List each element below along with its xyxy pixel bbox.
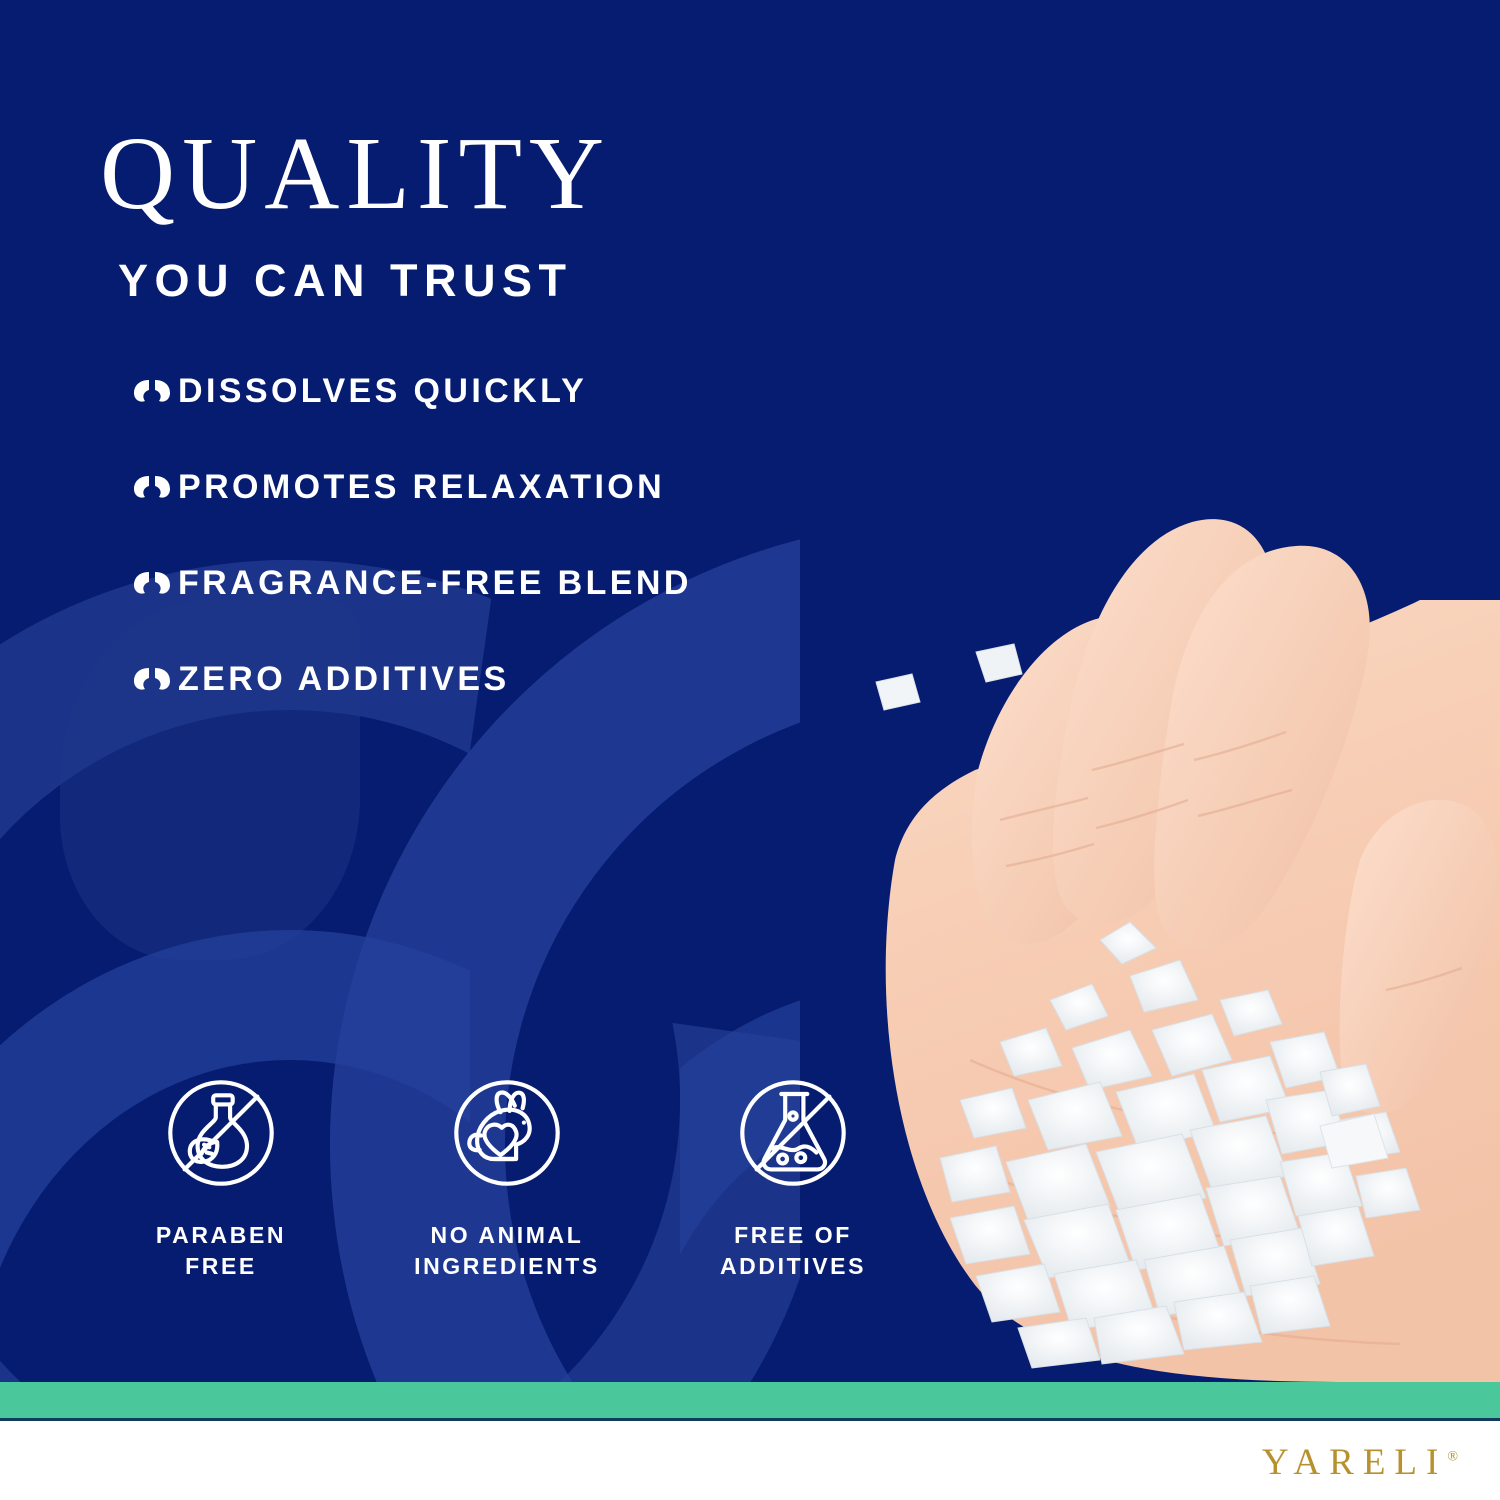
- list-item: FRAGRANCE-FREE BLEND: [132, 558, 832, 608]
- marketing-image: QUALITY YOU CAN TRUST DISSOLVES QUICKLY …: [0, 0, 1500, 1500]
- page-subtitle: YOU CAN TRUST: [118, 258, 573, 303]
- brand-name: YARELI: [1262, 1442, 1448, 1483]
- ornament-bullet-icon: [132, 376, 172, 406]
- list-item: ZERO ADDITIVES: [132, 654, 832, 704]
- list-item: PROMOTES RELAXATION: [132, 462, 832, 512]
- list-item-label: PROMOTES RELAXATION: [178, 468, 665, 507]
- badge-paraben-free: PARABEN FREE: [78, 1068, 364, 1282]
- badge-no-animal-ingredients: NO ANIMAL INGREDIENTS: [364, 1068, 650, 1282]
- badge-label: FREE OF ADDITIVES: [720, 1220, 866, 1282]
- page-title: QUALITY: [100, 122, 611, 226]
- navy-panel: QUALITY YOU CAN TRUST DISSOLVES QUICKLY …: [0, 0, 1500, 1382]
- ornament-bullet-icon: [132, 664, 172, 694]
- list-item: DISSOLVES QUICKLY: [132, 366, 832, 416]
- badge-label: NO ANIMAL INGREDIENTS: [414, 1220, 600, 1282]
- badge-label: PARABEN FREE: [156, 1220, 286, 1282]
- benefits-list: DISSOLVES QUICKLY PROMOTES RELAXATION FR…: [132, 366, 832, 750]
- brand-logo: YARELI®: [1262, 1441, 1458, 1484]
- trust-badges: PARABEN FREE NO ANIMAL INGREDIENTS: [78, 1068, 938, 1282]
- list-item-label: FRAGRANCE-FREE BLEND: [178, 564, 692, 603]
- rabbit-heart-cruelty-free-icon: [442, 1068, 572, 1198]
- badge-free-of-additives: FREE OF ADDITIVES: [650, 1068, 936, 1282]
- trademark-symbol: ®: [1447, 1450, 1458, 1465]
- ornament-bullet-icon: [132, 472, 172, 502]
- no-additives-flask-icon: [728, 1068, 858, 1198]
- list-item-label: ZERO ADDITIVES: [178, 660, 510, 699]
- list-item-label: DISSOLVES QUICKLY: [178, 372, 587, 411]
- accent-divider-band: [0, 1382, 1500, 1421]
- ornament-bullet-icon: [132, 568, 172, 598]
- no-paraben-flask-leaf-icon: [156, 1068, 286, 1198]
